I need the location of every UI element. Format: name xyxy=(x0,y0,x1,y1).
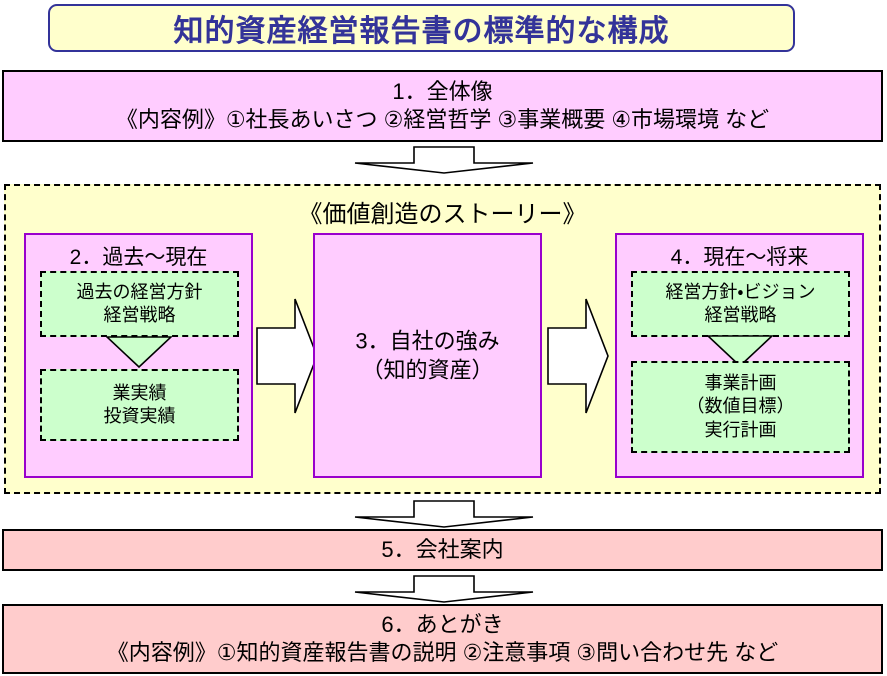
column-past-to-present: 2．過去～現在 過去の経営方針 経営戦略 業実績 投資実績 xyxy=(24,233,253,478)
connector-arrow-overview-to-story xyxy=(354,146,534,174)
past-results-line1: 業実績 xyxy=(113,382,167,405)
past-results-line2: 投資実績 xyxy=(104,405,176,428)
value-creation-story-container: 《価値創造のストーリー》 2．過去～現在 過去の経営方針 経営戦略 業実績 投資… xyxy=(4,184,881,494)
block-arrow-right-icon xyxy=(256,298,318,414)
section-overview: 1．全体像 《内容例》①社長あいさつ ②経営哲学 ③事業概要 ④市場環境 など xyxy=(2,70,883,142)
section-overview-detail: 《内容例》①社長あいさつ ②経営哲学 ③事業概要 ④市場環境 など xyxy=(116,106,769,134)
page-title: 知的資産経営報告書の標準的な構成 xyxy=(174,6,670,50)
future-plan-box: 事業計画 （数値目標） 実行計画 xyxy=(631,361,850,453)
story-title: 《価値創造のストーリー》 xyxy=(6,194,879,229)
section-company-info: 5．会社案内 xyxy=(2,529,883,571)
column-future-heading: 4．現在～将来 xyxy=(617,241,862,271)
section-company-info-heading: 5．会社案内 xyxy=(381,536,503,564)
triangle-down-icon xyxy=(106,336,172,368)
past-policy-line2: 経営戦略 xyxy=(104,304,176,327)
past-results-box: 業実績 投資実績 xyxy=(40,369,239,441)
future-plan-line1: 事業計画 xyxy=(705,372,777,395)
strengths-line2: （知的資産） xyxy=(315,356,540,386)
arrow-down-icon xyxy=(354,146,534,174)
future-policy-line2: 経営戦略 xyxy=(705,304,777,327)
section-overview-heading: 1．全体像 xyxy=(392,78,492,106)
future-plan-line2: （数値目標） xyxy=(687,395,795,418)
future-plan-line3: 実行計画 xyxy=(705,419,777,442)
future-policy-line1: 経営方針・ビジョン xyxy=(665,281,815,304)
connector-arrow-company-to-afterword xyxy=(354,575,534,603)
arrow-down-icon xyxy=(354,575,534,603)
connector-arrow-present-to-future xyxy=(547,298,609,414)
future-policy-box: 経営方針・ビジョン 経営戦略 xyxy=(631,271,850,337)
connector-arrow-past-to-present xyxy=(256,298,318,414)
connector-arrow-story-to-company xyxy=(354,500,534,528)
column-past-heading: 2．過去～現在 xyxy=(26,241,251,271)
section-afterword-heading: 6．あとがき xyxy=(381,611,503,639)
past-flow-triangle xyxy=(106,336,172,368)
past-policy-box: 過去の経営方針 経営戦略 xyxy=(40,271,239,337)
block-arrow-right-icon xyxy=(547,298,609,414)
page-title-banner: 知的資産経営報告書の標準的な構成 xyxy=(48,4,795,52)
arrow-down-icon xyxy=(354,500,534,528)
past-policy-line1: 過去の経営方針 xyxy=(77,281,203,304)
section-afterword: 6．あとがき 《内容例》①知的資産報告書の説明 ②注意事項 ③問い合わせ先 など xyxy=(2,604,883,674)
column-own-strengths: 3．自社の強み （知的資産） xyxy=(313,233,542,478)
section-afterword-detail: 《内容例》①知的資産報告書の説明 ②注意事項 ③問い合わせ先 など xyxy=(107,639,779,667)
strengths-line1: 3．自社の強み xyxy=(315,326,540,356)
column-present-to-future: 4．現在～将来 経営方針・ビジョン 経営戦略 事業計画 （数値目標） 実行計画 xyxy=(615,233,864,478)
column-strengths-text: 3．自社の強み （知的資産） xyxy=(315,326,540,385)
